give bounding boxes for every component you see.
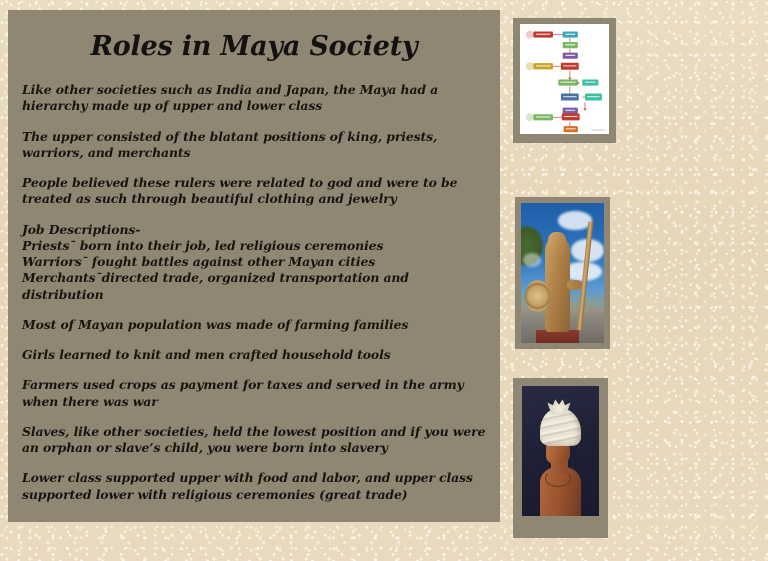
paragraph-class-support: Lower class supported upper with food an… <box>22 470 486 503</box>
maya-warrior-statue-photo <box>521 203 604 343</box>
page-title: Roles in Maya Society <box>22 32 486 62</box>
paragraph-slaves: Slaves, like other societies, held the l… <box>22 424 486 457</box>
paragraph-text: People believed these rulers were relate… <box>22 175 457 206</box>
warrior-head <box>548 232 565 250</box>
paragraph-text: Girls learned to knit and men crafted ho… <box>22 347 391 362</box>
job-description-merchants: Merchants¯directed trade, organized tran… <box>22 270 486 303</box>
paragraph-text: Most of Mayan population was made of far… <box>22 317 408 332</box>
job-description-warriors: Warriors¯ fought battles against other M… <box>22 254 486 270</box>
job-descriptions-block: Job Descriptions- Priests¯ born into the… <box>22 222 486 303</box>
paragraph-text: Lower class supported upper with food an… <box>22 470 473 501</box>
statue-pedestal <box>536 330 579 343</box>
paragraph-farming-families: Most of Mayan population was made of far… <box>22 317 486 333</box>
job-description-priests: Priests¯ born into their job, led religi… <box>22 238 486 254</box>
paragraph-farmers-taxes: Farmers used crops as payment for taxes … <box>22 377 486 410</box>
maya-priest-bust-photo <box>522 386 599 516</box>
paragraph-girls-knit: Girls learned to knit and men crafted ho… <box>22 347 486 363</box>
diagram-frame <box>513 18 616 143</box>
paragraph-text: The upper consisted of the blatant posit… <box>22 129 437 160</box>
slide-text-panel: Roles in Maya Society Like other societi… <box>8 10 500 522</box>
job-descriptions-heading: Job Descriptions- <box>22 222 486 238</box>
paragraph-text: Like other societies such as India and J… <box>22 82 438 113</box>
paragraph-text: Farmers used crops as payment for taxes … <box>22 377 464 408</box>
paragraph-rulers-divine: People believed these rulers were relate… <box>22 175 486 208</box>
warrior-shield <box>525 280 550 312</box>
warrior-arm <box>567 280 582 290</box>
paragraph-hierarchy: Like other societies such as India and J… <box>22 82 486 115</box>
paragraph-text: Slaves, like other societies, held the l… <box>22 424 485 455</box>
warrior-photo-frame <box>515 197 610 349</box>
maya-social-hierarchy-flowchart <box>520 24 609 134</box>
priest-photo-frame <box>513 378 608 538</box>
paragraph-upper-class: The upper consisted of the blatant posit… <box>22 129 486 162</box>
